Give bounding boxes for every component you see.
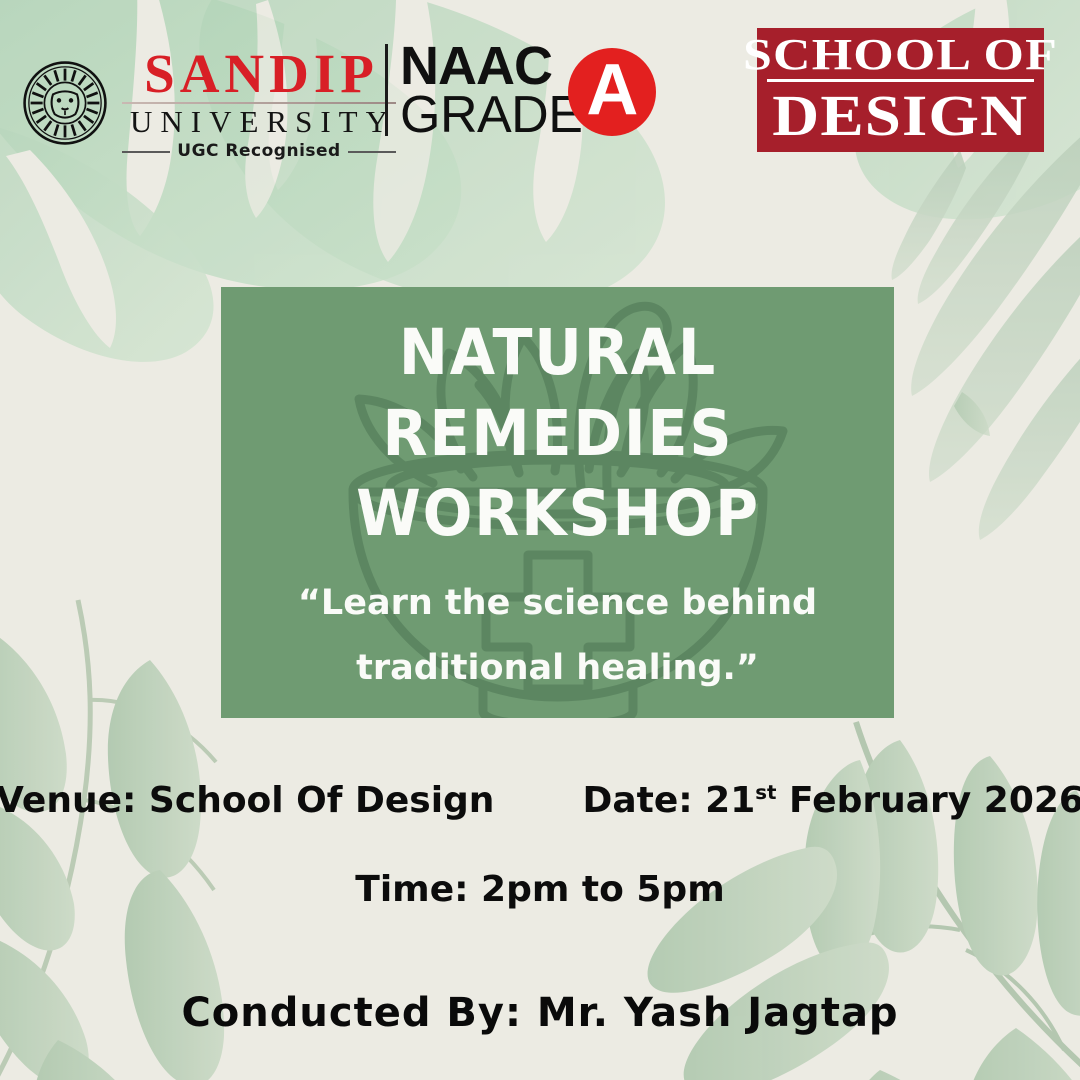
date-prefix: Date: 21 bbox=[582, 780, 755, 821]
logo-divider bbox=[385, 44, 388, 136]
conducted-by-text: Conducted By: Mr. Yash Jagtap bbox=[181, 990, 898, 1036]
sandip-university-name: SANDIP bbox=[139, 46, 379, 101]
school-of-design-separator bbox=[767, 79, 1034, 82]
venue-text: Venue: School Of Design bbox=[0, 780, 494, 821]
ugc-recognised-row: UGC Recognised bbox=[122, 143, 396, 160]
panel-text-block: Natural Remedies Workshop “Learn the sci… bbox=[221, 287, 894, 718]
ugc-dash-left bbox=[122, 151, 170, 153]
naac-grade-logo: NAAC GRADE A bbox=[400, 42, 656, 140]
time-row: Time: 2pm to 5pm bbox=[0, 869, 1080, 910]
sandip-university-logo: SANDIP UNIVERSITY UGC Recognised bbox=[22, 46, 396, 160]
date-suffix: February 2026 bbox=[777, 780, 1080, 821]
date-text: Date: 21st February 2026 bbox=[582, 780, 1080, 821]
school-of-design-line2: DESIGN bbox=[773, 88, 1029, 144]
poster-header: SANDIP UNIVERSITY UGC Recognised NAAC GR… bbox=[0, 0, 1080, 165]
title-panel: Natural Remedies Workshop “Learn the sci… bbox=[221, 287, 894, 718]
event-details: Venue: School Of Design Date: 21st Febru… bbox=[0, 780, 1080, 910]
ugc-dash-right bbox=[348, 151, 396, 153]
naac-grade-letter: A bbox=[586, 54, 638, 126]
sandip-university-subtitle: UNIVERSITY bbox=[122, 106, 396, 137]
small-leaf-mid-right bbox=[954, 392, 990, 436]
workshop-quote: “Learn the science behind traditional he… bbox=[245, 571, 870, 701]
palm-fronds-top-right bbox=[892, 120, 1080, 540]
workshop-title: Natural Remedies Workshop bbox=[260, 313, 855, 555]
venue-date-row: Venue: School Of Design Date: 21st Febru… bbox=[0, 780, 1080, 821]
workshop-poster: SANDIP UNIVERSITY UGC Recognised NAAC GR… bbox=[0, 0, 1080, 1080]
naac-label: NAAC bbox=[400, 42, 582, 92]
time-text: Time: 2pm to 5pm bbox=[355, 869, 724, 910]
date-ordinal: st bbox=[755, 781, 776, 804]
ugc-recognised-label: UGC Recognised bbox=[170, 143, 347, 160]
naac-grade-label: GRADE bbox=[400, 92, 582, 140]
naac-grade-badge: A bbox=[568, 48, 656, 136]
school-of-design-line1: SCHOOL OF bbox=[743, 34, 1058, 76]
school-of-design-logo: SCHOOL OF DESIGN bbox=[757, 28, 1044, 152]
lion-emblem-icon bbox=[22, 60, 108, 146]
conducted-by-row: Conducted By: Mr. Yash Jagtap bbox=[0, 990, 1080, 1036]
